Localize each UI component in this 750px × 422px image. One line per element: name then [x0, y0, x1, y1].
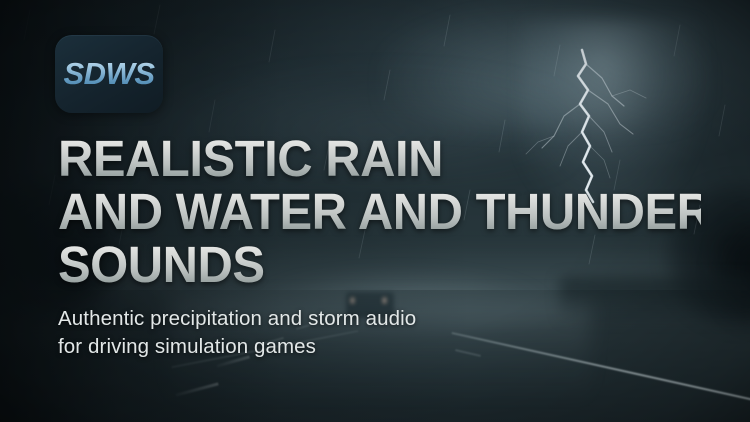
- subtitle-line-1: Authentic precipitation and storm audio: [58, 305, 416, 333]
- headline-line-2: AND WATER AND THUNDER: [58, 185, 701, 238]
- poster-canvas: SDWS REALISTIC RAIN AND WATER AND THUNDE…: [0, 0, 750, 422]
- poster-content: SDWS REALISTIC RAIN AND WATER AND THUNDE…: [0, 0, 750, 422]
- headline-line-1: REALISTIC RAIN: [58, 132, 701, 185]
- headline-line-3: SOUNDS: [58, 238, 701, 291]
- subtitle-line-2: for driving simulation games: [58, 333, 416, 361]
- sdws-logo-badge[interactable]: SDWS: [55, 35, 163, 113]
- sdws-logo-text: SDWS: [64, 56, 155, 92]
- subtitle-block: Authentic precipitation and storm audio …: [58, 305, 416, 361]
- headline-block: REALISTIC RAIN AND WATER AND THUNDER SOU…: [58, 132, 728, 291]
